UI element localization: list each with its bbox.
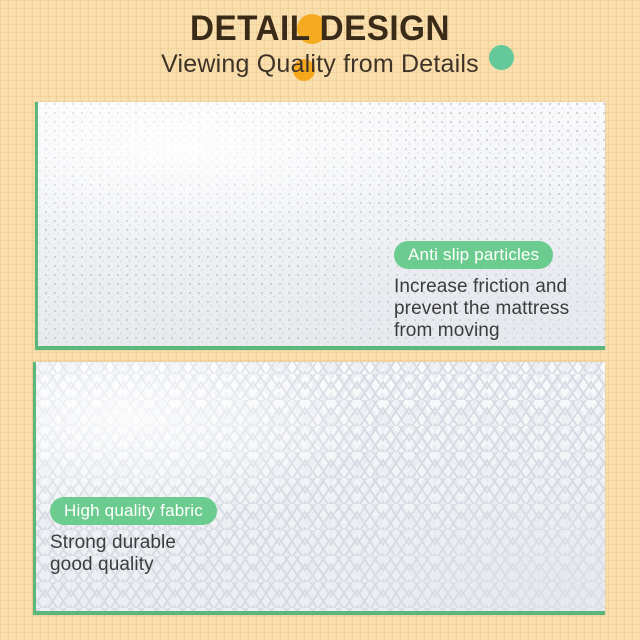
product-image-fabric [33, 362, 605, 615]
fabric-texture-highlight [33, 362, 605, 615]
panel-left-border [33, 362, 36, 615]
panel-bottom-border [35, 346, 605, 350]
page-title: DETAIL DESIGN [16, 11, 624, 47]
callout-fabric-description: Strong durable good quality [50, 532, 260, 576]
page-subtitle: Viewing Quality from Details [0, 49, 640, 79]
badge-high-quality-fabric: High quality fabric [50, 497, 217, 525]
callout-anti-slip: Anti slip particles Increase friction an… [394, 241, 594, 342]
header: DETAIL DESIGN Viewing Quality from Detai… [0, 0, 640, 96]
panel-bottom-border [33, 611, 605, 615]
panel-left-border [35, 102, 38, 350]
badge-anti-slip-particles: Anti slip particles [394, 241, 553, 269]
detail-design-poster: DETAIL DESIGN Viewing Quality from Detai… [0, 0, 640, 640]
callout-anti-slip-description: Increase friction and prevent the mattre… [394, 276, 594, 342]
callout-fabric: High quality fabric Strong durable good … [50, 497, 260, 576]
